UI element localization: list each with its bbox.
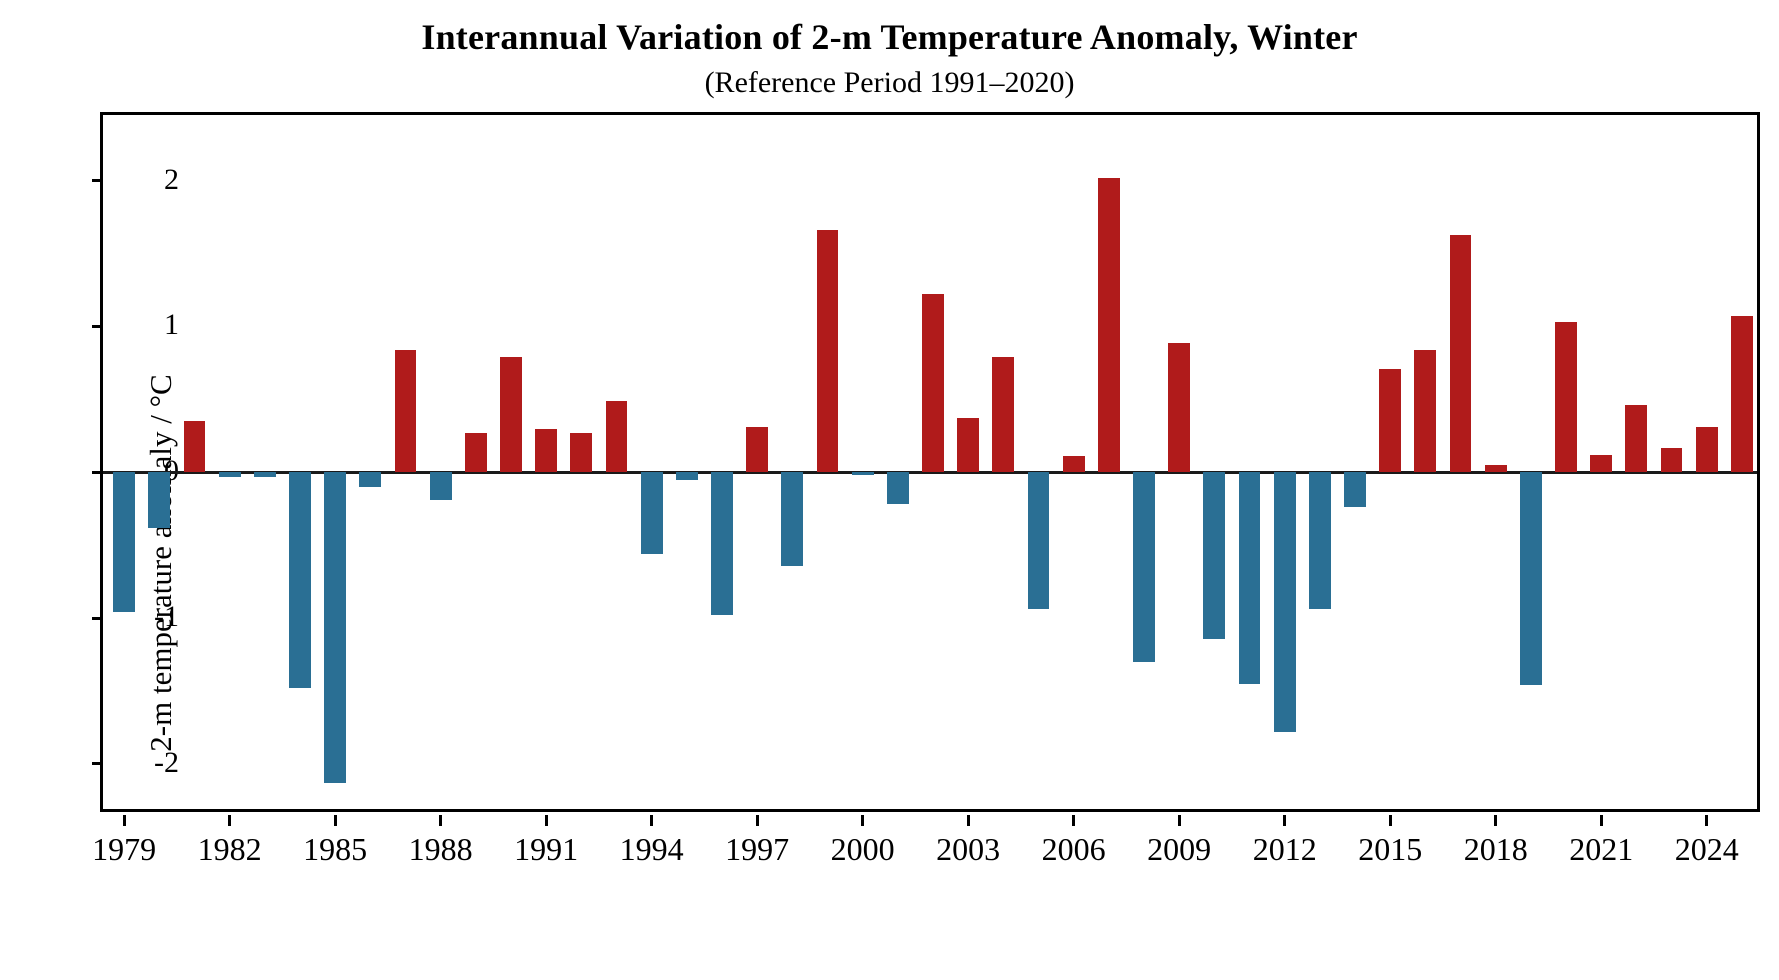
plot-area (103, 115, 1757, 809)
x-tick-mark (1283, 815, 1286, 826)
bar-1994 (641, 472, 663, 554)
bar-2010 (1203, 472, 1225, 638)
bar-1993 (606, 401, 628, 472)
bar-1985 (324, 472, 346, 783)
x-tick-mark (1705, 815, 1708, 826)
bar-1990 (500, 357, 522, 472)
bar-1987 (395, 350, 417, 473)
x-tick-mark (1600, 815, 1603, 826)
bar-2025 (1731, 316, 1753, 472)
bar-2008 (1133, 472, 1155, 662)
bar-2022 (1625, 405, 1647, 472)
bar-1992 (570, 433, 592, 472)
bar-1988 (430, 472, 452, 500)
x-tick-mark (439, 815, 442, 826)
bar-1979 (113, 472, 135, 612)
bar-2024 (1696, 427, 1718, 472)
bar-2014 (1344, 472, 1366, 507)
bar-2015 (1379, 369, 1401, 473)
bar-2001 (887, 472, 909, 504)
bar-1989 (465, 433, 487, 472)
bar-2005 (1028, 472, 1050, 609)
bar-1995 (676, 472, 698, 479)
x-tick-mark (756, 815, 759, 826)
bar-1981 (184, 421, 206, 472)
bar-2019 (1520, 472, 1542, 685)
bar-2004 (992, 357, 1014, 472)
x-tick-mark (861, 815, 864, 826)
bar-1991 (535, 429, 557, 473)
bar-1983 (254, 472, 276, 476)
bar-1984 (289, 472, 311, 688)
bar-1998 (781, 472, 803, 565)
bar-2017 (1450, 235, 1472, 473)
bar-2002 (922, 294, 944, 472)
bar-2007 (1098, 178, 1120, 473)
chart-title: Interannual Variation of 2-m Temperature… (0, 16, 1779, 58)
x-tick-mark (1072, 815, 1075, 826)
bar-2009 (1168, 343, 1190, 473)
chart-figure: Interannual Variation of 2-m Temperature… (0, 0, 1779, 980)
plot-frame: 2-m temperature anomaly / °C 210-1-2 197… (100, 112, 1760, 812)
bar-2016 (1414, 350, 1436, 473)
bar-1982 (219, 472, 241, 476)
x-tick-mark (123, 815, 126, 826)
bar-2023 (1661, 448, 1683, 473)
bar-2018 (1485, 465, 1507, 472)
bar-1986 (359, 472, 381, 487)
x-tick-mark (545, 815, 548, 826)
x-tick-mark (228, 815, 231, 826)
chart-subtitle: (Reference Period 1991–2020) (0, 66, 1779, 100)
x-tick-label: 2024 (1637, 831, 1777, 867)
bar-2020 (1555, 322, 1577, 472)
bar-1980 (148, 472, 170, 527)
bar-1999 (817, 230, 839, 472)
bar-1996 (711, 472, 733, 615)
x-tick-mark (1178, 815, 1181, 826)
x-tick-mark (650, 815, 653, 826)
x-tick-mark (967, 815, 970, 826)
bar-1997 (746, 427, 768, 472)
bar-2021 (1590, 455, 1612, 473)
x-tick-mark (1389, 815, 1392, 826)
x-tick-mark (1494, 815, 1497, 826)
bar-2012 (1274, 472, 1296, 732)
x-tick-mark (334, 815, 337, 826)
bar-2013 (1309, 472, 1331, 609)
bar-2000 (852, 472, 874, 475)
bar-2003 (957, 418, 979, 472)
bar-2011 (1239, 472, 1261, 683)
bar-2006 (1063, 456, 1085, 472)
